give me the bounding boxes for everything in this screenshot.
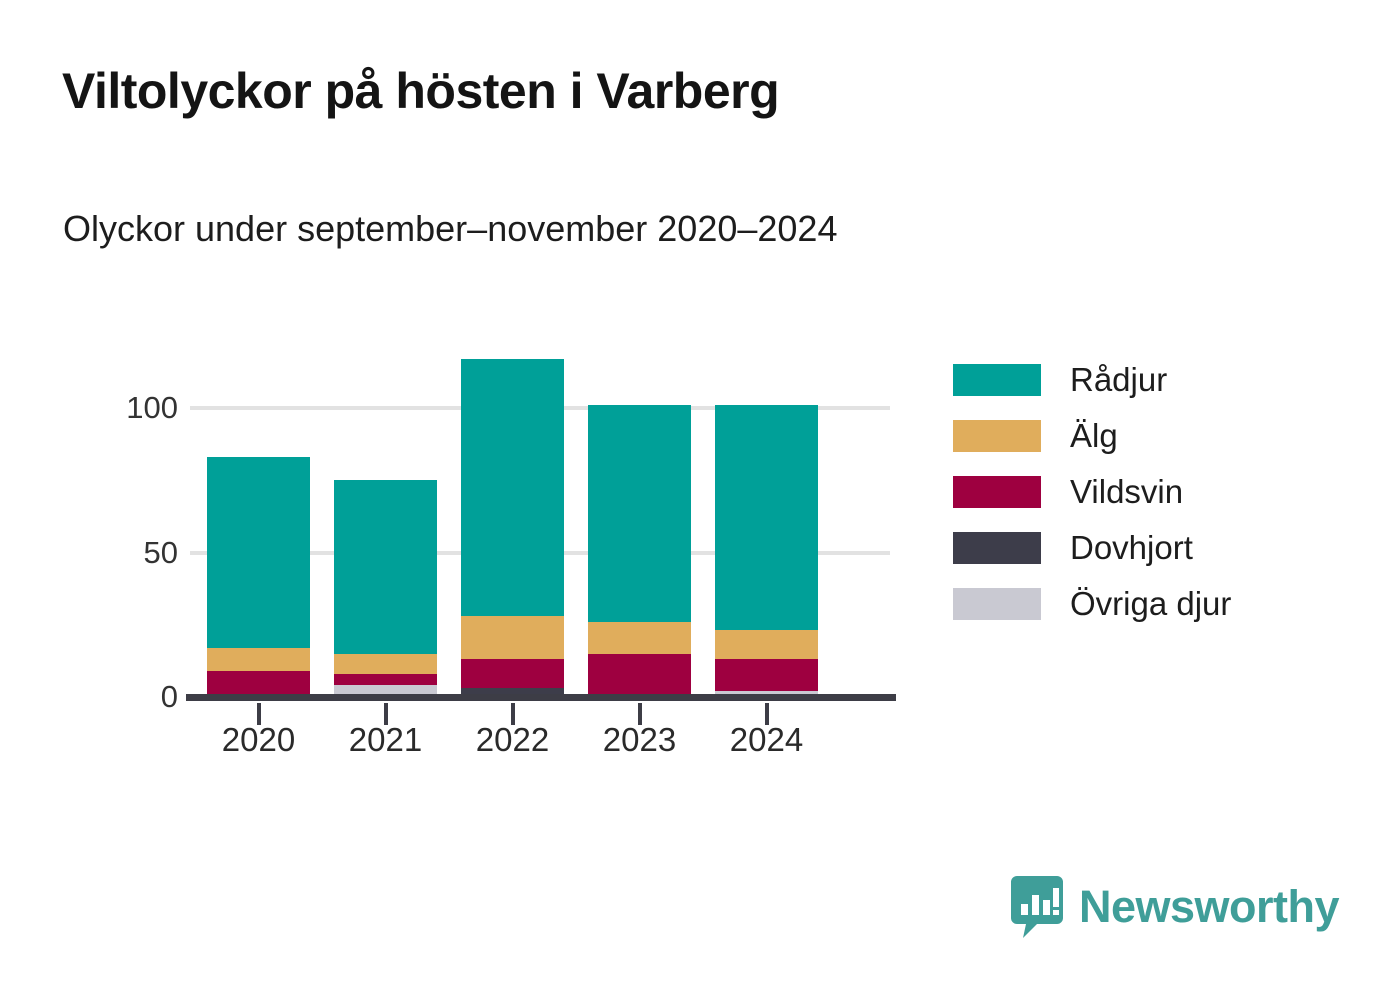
bar-segment[interactable] [588,622,691,654]
y-axis-tick-label: 0 [58,679,178,715]
bar-segment[interactable] [334,480,437,653]
legend-color-swatch [953,420,1041,452]
x-axis-line [186,694,896,701]
bar-segment[interactable] [715,630,818,659]
legend-item[interactable]: Vildsvin [953,464,1231,520]
chart-legend: RådjurÄlgVildsvinDovhjortÖvriga djur [953,352,1231,632]
legend-item-label: Vildsvin [1070,473,1183,511]
bar-segment[interactable] [588,405,691,622]
legend-item-label: Rådjur [1070,361,1167,399]
bar-segment[interactable] [461,688,564,694]
newsworthy-logo: Newsworthy [1011,876,1339,938]
bar-segment[interactable] [334,685,437,694]
bar-segment[interactable] [334,654,437,674]
bar-segment[interactable] [715,405,818,630]
legend-color-swatch [953,476,1041,508]
newsworthy-bar-chart-icon [1011,876,1063,938]
bar-stack[interactable] [461,359,564,694]
legend-item[interactable]: Övriga djur [953,576,1231,632]
bar-segment[interactable] [588,654,691,694]
bar-segment[interactable] [334,674,437,686]
legend-item-label: Dovhjort [1070,529,1193,567]
bar-segment[interactable] [715,691,818,694]
legend-item-label: Övriga djur [1070,585,1231,623]
bar-stack[interactable] [588,405,691,694]
legend-item-label: Älg [1070,417,1118,455]
legend-item[interactable]: Dovhjort [953,520,1231,576]
bar-segment[interactable] [461,616,564,659]
legend-item[interactable]: Älg [953,408,1231,464]
bar-stack[interactable] [207,457,310,694]
y-axis-tick-label: 100 [58,390,178,426]
newsworthy-wordmark: Newsworthy [1079,881,1339,933]
legend-color-swatch [953,588,1041,620]
bar-segment[interactable] [207,457,310,648]
bar-segment[interactable] [715,659,818,691]
bar-stack[interactable] [334,480,437,694]
bar-segment[interactable] [207,671,310,694]
legend-color-swatch [953,532,1041,564]
bar-segment[interactable] [207,648,310,671]
legend-color-swatch [953,364,1041,396]
legend-item[interactable]: Rådjur [953,352,1231,408]
y-axis-tick-label: 50 [58,535,178,571]
chart-page: Viltolyckor på hösten i Varberg Olyckor … [0,0,1382,999]
bar-segment[interactable] [461,359,564,616]
bar-stack[interactable] [715,405,818,694]
x-axis-tick-label: 2024 [687,721,847,759]
bar-segment[interactable] [461,659,564,688]
